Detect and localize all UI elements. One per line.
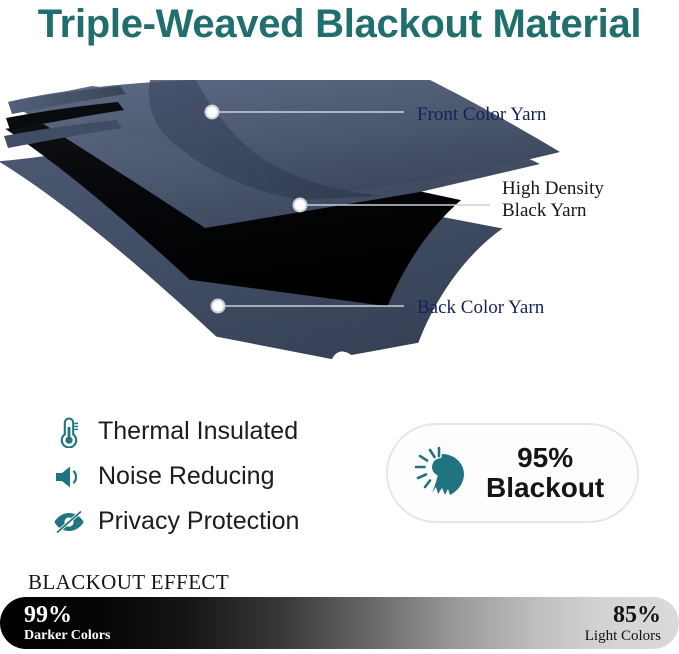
blackout-effect-gradient-bar: 99% Darker Colors 85% Light Colors xyxy=(0,597,679,649)
page-title: Triple-Weaved Blackout Material xyxy=(0,2,679,47)
sun-blocked-by-curtain-icon xyxy=(410,440,476,506)
blackout-stat-light-percent: 85% xyxy=(585,602,661,628)
thermometer-icon xyxy=(48,413,90,451)
speaker-icon xyxy=(48,458,90,496)
fabric-layers-illustration xyxy=(0,80,679,370)
fabric-layers-diagram xyxy=(0,80,679,370)
blackout-stat-darker-percent: 99% xyxy=(24,602,110,628)
blackout-stat-darker: 99% Darker Colors xyxy=(24,602,110,644)
feature-label: Noise Reducing xyxy=(98,462,275,491)
blackout-stat-light: 85% Light Colors xyxy=(585,602,661,644)
callout-label-black-yarn: High Density Black Yarn xyxy=(502,178,662,222)
feature-label: Privacy Protection xyxy=(98,507,299,536)
feature-noise-reducing: Noise Reducing xyxy=(48,454,378,499)
blackout-effect-heading: BLACKOUT EFFECT xyxy=(28,570,229,595)
badge-percent: 95% xyxy=(486,443,604,473)
blackout-stat-light-caption: Light Colors xyxy=(585,628,661,644)
eye-slash-icon xyxy=(48,503,90,541)
feature-privacy-protection: Privacy Protection xyxy=(48,499,378,544)
callout-label-black-line1: High Density xyxy=(502,178,604,199)
circle-marker xyxy=(212,300,225,313)
feature-thermal-insulated: Thermal Insulated xyxy=(48,409,378,454)
feature-label: Thermal Insulated xyxy=(98,417,298,446)
features-list: Thermal Insulated Noise Reducing Privacy… xyxy=(48,409,378,544)
callout-label-back: Back Color Yarn xyxy=(417,297,544,319)
callout-label-black-line2: Black Yarn xyxy=(502,200,586,221)
badge-word: Blackout xyxy=(486,473,604,503)
blackout-percentage-badge: 95% Blackout xyxy=(386,423,639,523)
circle-marker xyxy=(294,199,307,212)
badge-text: 95% Blackout xyxy=(486,443,604,503)
circle-marker xyxy=(206,106,219,119)
blackout-stat-darker-caption: Darker Colors xyxy=(24,628,110,644)
callout-label-front: Front Color Yarn xyxy=(417,104,546,126)
